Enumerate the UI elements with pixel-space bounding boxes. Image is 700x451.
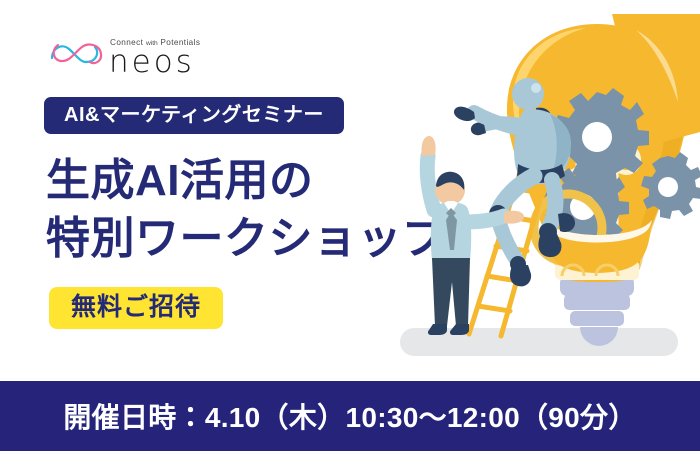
seminar-poster: Connect with Potentials neos AI&マーケティングセ… [0,0,700,451]
headline-line-2: 特別ワークショップ [46,210,447,268]
illustration-robot-lightbulb [400,14,700,364]
date-time-text: 開催日時：4.10（木）10:30〜12:00（90分） [63,396,636,436]
infinity-loop-mark-icon [48,38,106,68]
page-title: 生成AI活用の 特別ワークショップ [46,152,447,268]
date-time-banner: 開催日時：4.10（木）10:30〜12:00（90分） [0,381,700,451]
headline-line-1: 生成AI活用の [46,152,447,210]
seminar-category-badge: AI&マーケティングセミナー [44,97,344,134]
free-invitation-badge: 無料ご招待 [49,287,223,329]
brand-wordmark: neos [109,47,195,78]
brand-logo: Connect with Potentials neos [48,34,248,88]
